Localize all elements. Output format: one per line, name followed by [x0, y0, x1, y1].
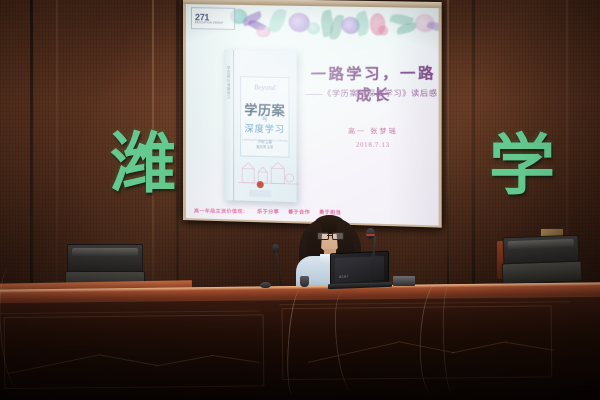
book-cover-border: Beyond 学历案 与 深度学习 Learning Design and De…: [240, 76, 289, 158]
floral-decoration: [226, 5, 439, 55]
logo-english: EDUCATION GROUP: [195, 21, 234, 25]
slide-footer-label: 高一年级主流价值观：: [194, 207, 248, 215]
podium-panel: [4, 314, 265, 389]
slide-presenter-line: 高一 张梦瑶: [307, 126, 439, 137]
wall-seam: [472, 0, 475, 290]
cup-object: [300, 276, 309, 287]
glasses-icon: [317, 232, 342, 238]
wall-character-left: 潍: [110, 132, 176, 198]
book-subtitle: 深度学习: [241, 121, 288, 135]
book-spine: 学历案与深度学习: [224, 50, 234, 201]
book-script-word: Beyond: [241, 83, 288, 92]
book-sketch-illustration: [238, 158, 299, 186]
laptop-base: [328, 282, 392, 289]
wall-character-right: 学: [489, 134, 555, 200]
presentation-slide: 271 EDUCATION GROUP 学历案与深度学习 Beyond 学历案 …: [186, 4, 439, 225]
slide-date: 2018.7.13: [307, 141, 439, 149]
chair-highlight: [508, 238, 573, 249]
chair-right-seat: [502, 261, 583, 285]
book-authors: 卢明 主编 崔允漷 主审: [241, 139, 288, 150]
photo-scene: 潍 学: [0, 0, 600, 400]
logo-271-education-group: 271 EDUCATION GROUP: [191, 7, 235, 30]
wall-seam: [447, 0, 449, 290]
book-publisher-dot: [257, 181, 264, 188]
laptop: acer: [330, 252, 392, 292]
slide-footer-item-1: 乐于分享: [257, 208, 279, 215]
book-cover-image: 学历案与深度学习 Beyond 学历案 与 深度学习 Learning Desi…: [224, 50, 297, 202]
book-spine-text: 学历案与深度学习: [225, 66, 232, 100]
computer-mouse: [260, 282, 271, 288]
projection-screen: 271 EDUCATION GROUP 学历案与深度学习 Beyond 学历案 …: [183, 0, 442, 228]
laptop-brand-logo: acer: [339, 273, 348, 278]
panel-trim: [0, 310, 260, 314]
slide-subtitle: ——《学历案与深度学习》读后感: [299, 88, 439, 100]
chair-highlight: [72, 248, 137, 257]
book-publisher-badge: [249, 190, 271, 198]
book-author-2: 崔允漷 主审: [241, 144, 288, 150]
chair-left-back: [67, 244, 143, 272]
device-box: [393, 276, 415, 286]
chair-right: [497, 236, 583, 288]
